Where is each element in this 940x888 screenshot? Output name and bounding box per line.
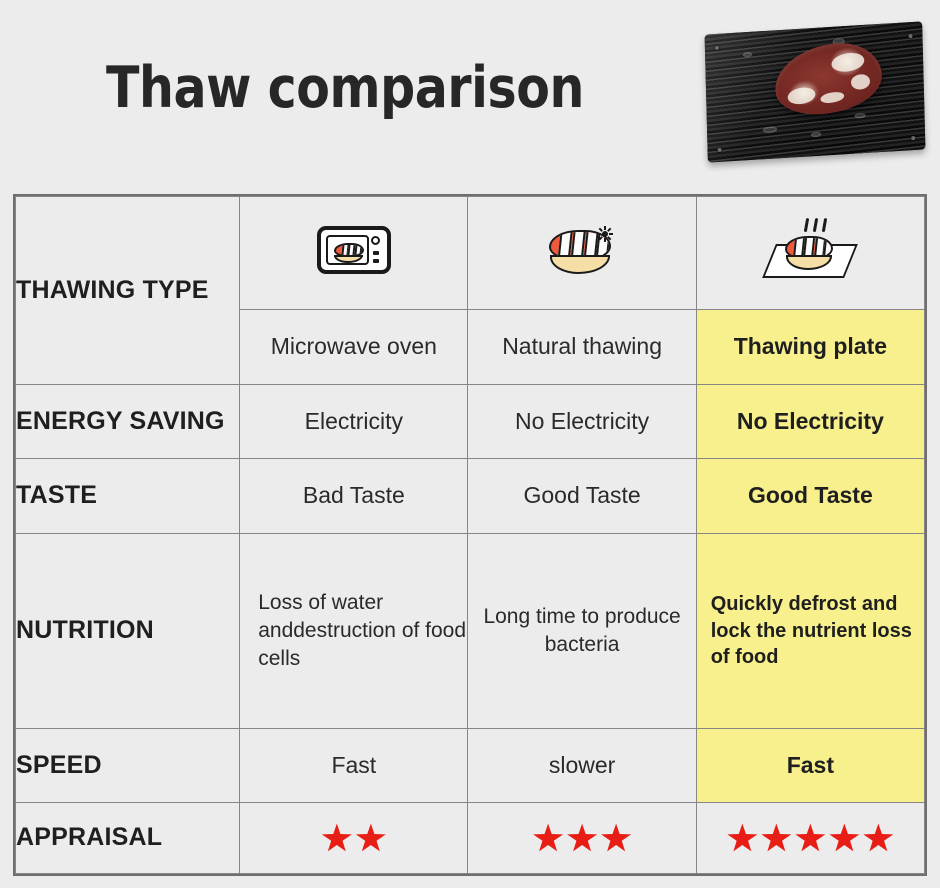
star-icon — [795, 824, 825, 853]
sun-sparkle-icon — [597, 226, 613, 242]
cell-nutrition-microwave: Loss of water anddestruction of food cel… — [240, 533, 468, 728]
steak-sun-icon — [539, 220, 625, 282]
star-icon — [727, 824, 757, 853]
steak-on-plate-icon — [767, 220, 853, 282]
star-icon — [356, 824, 386, 853]
table-row-speed: SPEED Fast slower Fast — [16, 728, 925, 802]
product-photo-thawing-plate — [692, 12, 938, 172]
star-rating-microwave — [240, 824, 467, 853]
cell-appraisal-plate — [696, 803, 924, 874]
table-row-nutrition: NUTRITION Loss of water anddestruction o… — [16, 533, 925, 728]
page-title: Thaw comparison — [48, 55, 641, 121]
cell-energy-saving-natural: No Electricity — [468, 385, 696, 459]
row-label-speed: SPEED — [16, 728, 240, 802]
column-name-thawing-plate: Thawing plate — [696, 310, 924, 385]
star-icon — [829, 824, 859, 853]
row-label-taste: TASTE — [16, 459, 240, 533]
comparison-table-container: THAWING TYPE — [13, 194, 927, 876]
comparison-table: THAWING TYPE — [15, 196, 925, 874]
row-label-appraisal: APPRAISAL — [16, 803, 240, 874]
star-icon — [322, 824, 352, 853]
table-row-energy-saving: ENERGY SAVING Electricity No Electricity… — [16, 385, 925, 459]
cell-icon-thawing-plate — [696, 197, 924, 310]
cell-icon-natural — [468, 197, 696, 310]
cell-energy-saving-microwave: Electricity — [240, 385, 468, 459]
cell-taste-plate: Good Taste — [696, 459, 924, 533]
star-icon — [601, 824, 631, 853]
steam-line-icon — [804, 217, 809, 231]
cell-taste-microwave: Bad Taste — [240, 459, 468, 533]
star-icon — [761, 824, 791, 853]
row-label-nutrition: NUTRITION — [16, 533, 240, 728]
cell-taste-natural: Good Taste — [468, 459, 696, 533]
column-name-microwave: Microwave oven — [240, 310, 468, 385]
row-label-thawing-type: THAWING TYPE — [16, 197, 240, 385]
cell-speed-plate: Fast — [696, 728, 924, 802]
cell-appraisal-microwave — [240, 803, 468, 874]
table-row-appraisal: APPRAISAL — [16, 803, 925, 874]
microwave-oven-icon — [311, 220, 397, 282]
star-rating-plate — [697, 824, 924, 853]
cell-speed-natural: slower — [468, 728, 696, 802]
row-label-energy-saving: ENERGY SAVING — [16, 385, 240, 459]
cell-energy-saving-plate: No Electricity — [696, 385, 924, 459]
star-rating-natural — [468, 824, 695, 853]
star-icon — [533, 824, 563, 853]
column-name-natural: Natural thawing — [468, 310, 696, 385]
header: Thaw comparison — [0, 0, 940, 186]
steam-line-icon — [822, 217, 827, 231]
cell-speed-microwave: Fast — [240, 728, 468, 802]
cell-nutrition-plate: Quickly defrost and lock the nutrient lo… — [696, 533, 924, 728]
star-icon — [567, 824, 597, 853]
table-row-taste: TASTE Bad Taste Good Taste Good Taste — [16, 459, 925, 533]
cell-icon-microwave — [240, 197, 468, 310]
table-row-icons: THAWING TYPE — [16, 197, 925, 310]
star-icon — [863, 824, 893, 853]
cell-nutrition-natural: Long time to produce bacteria — [468, 533, 696, 728]
steam-line-icon — [813, 217, 818, 231]
cell-appraisal-natural — [468, 803, 696, 874]
